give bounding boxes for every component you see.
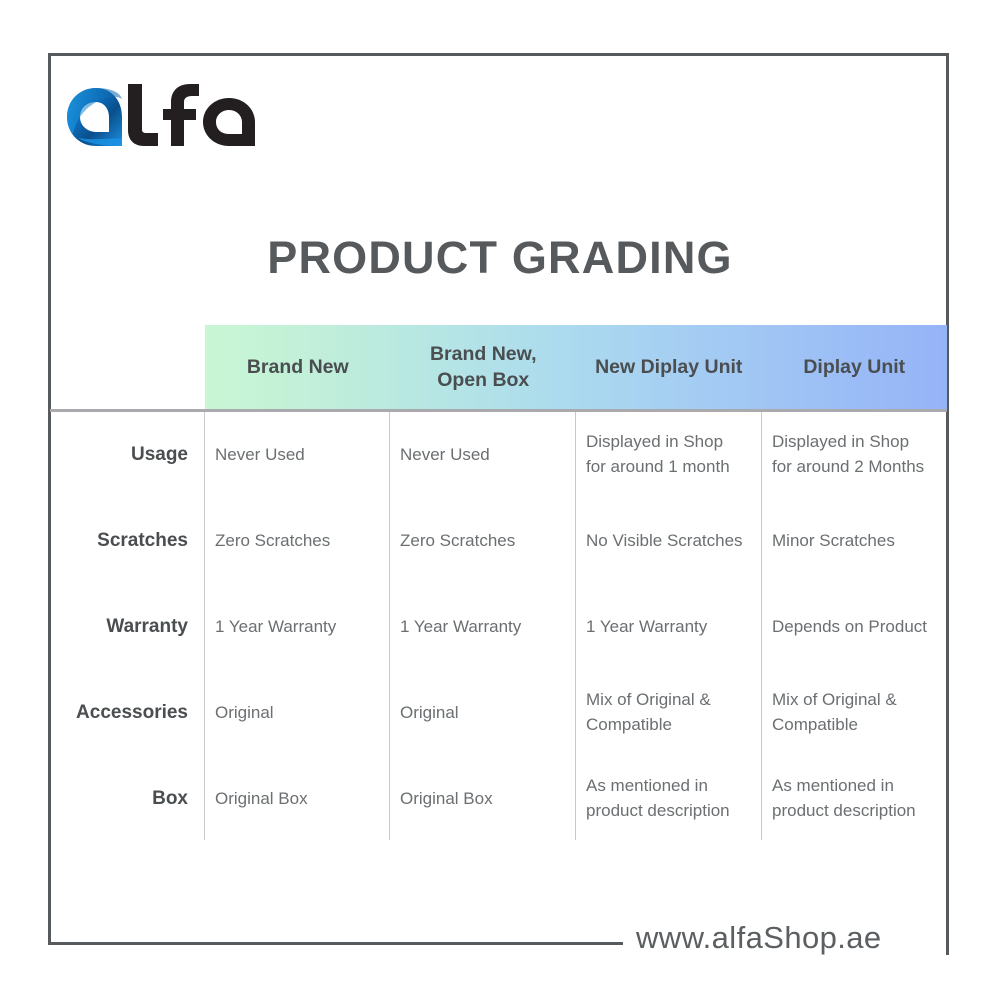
row-label-box: Box bbox=[50, 756, 204, 842]
row-label-accessories: Accessories bbox=[50, 670, 204, 756]
cell-scratches-new-display-unit: No Visible Scratches bbox=[575, 498, 761, 584]
grading-table: Brand New Brand New, Open Box New Diplay… bbox=[50, 325, 947, 842]
cell-box-brand-new-open-box: Original Box bbox=[389, 756, 575, 842]
column-header-brand-new-open-box: Brand New, Open Box bbox=[391, 325, 577, 409]
row-label-usage: Usage bbox=[50, 412, 204, 498]
cell-box-new-display-unit: As mentioned in product description bbox=[575, 756, 761, 842]
cell-accessories-new-display-unit: Mix of Original & Compatible bbox=[575, 670, 761, 756]
row-label-warranty: Warranty bbox=[50, 584, 204, 670]
logo-letter-l bbox=[128, 84, 158, 146]
column-header-display-unit: Diplay Unit bbox=[762, 325, 948, 409]
cell-usage-brand-new-open-box: Never Used bbox=[389, 412, 575, 498]
cell-scratches-brand-new: Zero Scratches bbox=[204, 498, 389, 584]
website-url[interactable]: www.alfaShop.ae bbox=[636, 920, 882, 956]
cell-accessories-display-unit: Mix of Original & Compatible bbox=[761, 670, 947, 756]
logo-letter-f bbox=[163, 84, 199, 146]
cell-scratches-brand-new-open-box: Zero Scratches bbox=[389, 498, 575, 584]
cell-warranty-new-display-unit: 1 Year Warranty bbox=[575, 584, 761, 670]
cell-accessories-brand-new-open-box: Original bbox=[389, 670, 575, 756]
table-body: Usage Never Used Never Used Displayed in… bbox=[50, 412, 947, 842]
cell-warranty-brand-new: 1 Year Warranty bbox=[204, 584, 389, 670]
cell-warranty-display-unit: Depends on Product bbox=[761, 584, 947, 670]
frame-border-bottom bbox=[48, 942, 623, 945]
cell-scratches-display-unit: Minor Scratches bbox=[761, 498, 947, 584]
cell-usage-new-display-unit: Displayed in Shop for around 1 month bbox=[575, 412, 761, 498]
cell-usage-display-unit: Displayed in Shop for around 2 Months bbox=[761, 412, 947, 498]
product-grading-infographic: PRODUCT GRADING Brand New Brand New, Ope… bbox=[0, 0, 1000, 1000]
row-label-scratches: Scratches bbox=[50, 498, 204, 584]
column-header-new-display-unit: New Diplay Unit bbox=[576, 325, 762, 409]
column-header-brand-new: Brand New bbox=[205, 325, 391, 409]
page-title: PRODUCT GRADING bbox=[0, 232, 1000, 284]
cell-box-display-unit: As mentioned in product description bbox=[761, 756, 947, 842]
cell-box-brand-new: Original Box bbox=[204, 756, 389, 842]
cell-warranty-brand-new-open-box: 1 Year Warranty bbox=[389, 584, 575, 670]
cell-accessories-brand-new: Original bbox=[204, 670, 389, 756]
alfa-logo bbox=[66, 82, 266, 152]
cell-usage-brand-new: Never Used bbox=[204, 412, 389, 498]
frame-border-top bbox=[48, 53, 949, 56]
table-header-row: Brand New Brand New, Open Box New Diplay… bbox=[205, 325, 947, 409]
logo-letter-a-dark bbox=[203, 98, 255, 146]
